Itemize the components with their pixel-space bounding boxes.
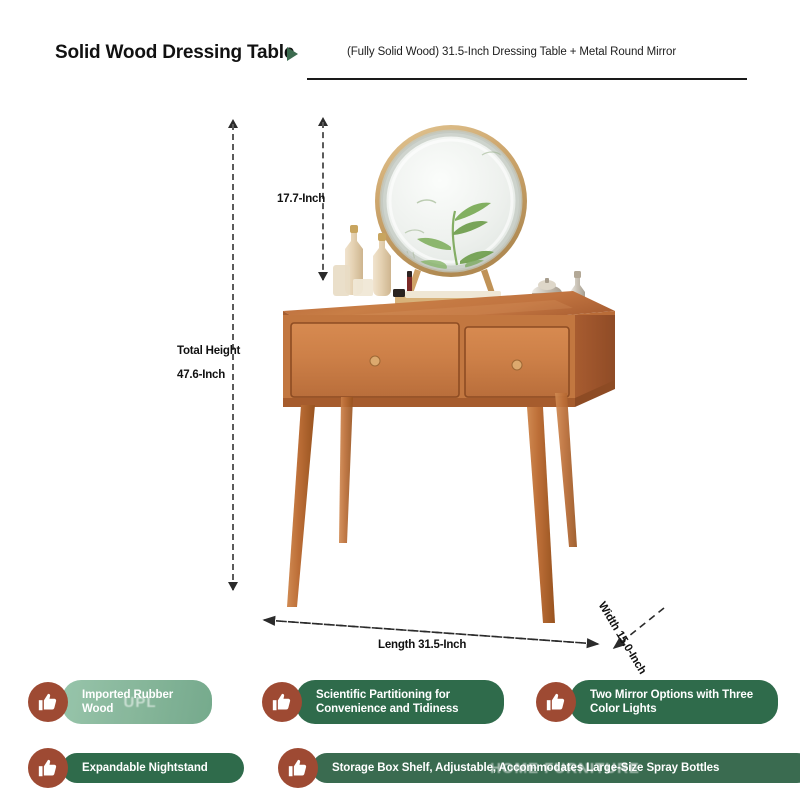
feature-badge[interactable]: Imported Rubber Wood UPL — [28, 680, 212, 724]
drawer-left — [291, 323, 459, 397]
feature-badge-pill: Expandable Nightstand — [62, 753, 244, 783]
length-label: Length 31.5-Inch — [378, 639, 466, 651]
feature-badge-pill: Two Mirror Options with Three Color Ligh… — [570, 680, 778, 724]
feature-badge[interactable]: Storage Box Shelf, Adjustable, Accommoda… — [278, 748, 800, 788]
round-mirror — [375, 125, 527, 309]
total-height-label: Total Height — [177, 345, 240, 357]
feature-badge[interactable]: Expandable Nightstand — [28, 748, 244, 788]
feature-badge[interactable]: Two Mirror Options with Three Color Ligh… — [536, 680, 778, 724]
thumbs-up-icon — [262, 682, 302, 722]
thumbs-up-icon — [28, 682, 68, 722]
product-subtitle: (Fully Solid Wood) 31.5-Inch Dressing Ta… — [347, 46, 676, 58]
feature-badge-pill: Storage Box Shelf, Adjustable, Accommoda… — [312, 753, 800, 783]
feature-badge-label: Imported Rubber Wood — [82, 688, 196, 716]
feature-badge-list: Imported Rubber Wood UPL Scientific Part… — [0, 668, 800, 800]
feature-badge-label: Two Mirror Options with Three Color Ligh… — [590, 688, 762, 716]
feature-badge-pill: Imported Rubber Wood — [62, 680, 212, 724]
product-illustration — [255, 115, 635, 635]
feature-badge-label: Storage Box Shelf, Adjustable, Accommoda… — [332, 761, 719, 775]
feature-badge[interactable]: Scientific Partitioning for Convenience … — [262, 680, 504, 724]
feature-badge-label: Scientific Partitioning for Convenience … — [316, 688, 488, 716]
total-height-arrow-bottom — [228, 582, 238, 591]
feature-badge-label: Expandable Nightstand — [82, 761, 208, 775]
thumbs-up-icon — [536, 682, 576, 722]
thumbs-up-icon — [28, 748, 68, 788]
page-title: Solid Wood Dressing Table — [55, 42, 294, 64]
header: Solid Wood Dressing Table (Fully Solid W… — [0, 0, 800, 92]
header-divider — [307, 78, 747, 80]
total-height-value: 47.6-Inch — [177, 369, 225, 381]
thumbs-up-icon — [278, 748, 318, 788]
feature-badge-pill: Scientific Partitioning for Convenience … — [296, 680, 504, 724]
drawer-right — [465, 327, 569, 397]
total-height-dim-line — [232, 124, 234, 590]
table-legs — [287, 393, 577, 623]
dressing-table-drawing — [255, 115, 635, 635]
play-triangle-icon — [287, 47, 298, 61]
